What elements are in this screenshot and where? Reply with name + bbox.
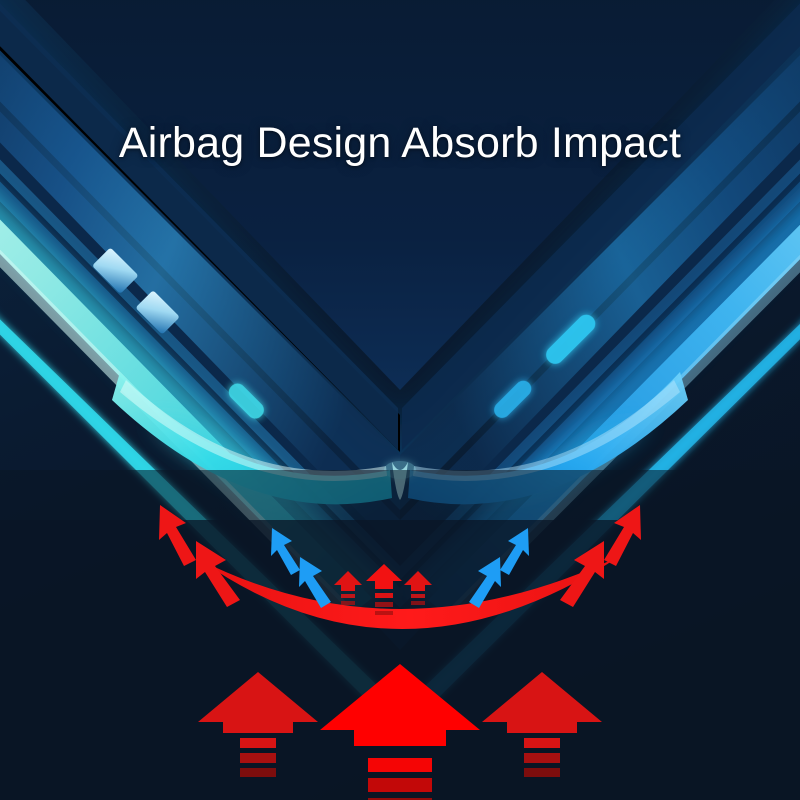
small-center-arrow-left (334, 571, 362, 605)
small-center-arrow-right (404, 571, 432, 605)
impact-arrow-left (198, 672, 318, 777)
page-title: Airbag Design Absorb Impact (0, 119, 800, 168)
inward-arrow-left-upper (271, 528, 300, 575)
outward-arrow-right-outer (604, 505, 641, 566)
outward-arrow-left-inner (196, 541, 240, 607)
impact-arrow-right (482, 672, 602, 777)
outward-arrow-right-inner (560, 541, 604, 607)
promo-image-canvas: Airbag Design Absorb Impact (0, 0, 800, 800)
small-center-arrow-middle (366, 564, 402, 615)
impact-arrow-center (320, 664, 480, 800)
inward-arrow-right-upper (500, 528, 529, 575)
outward-arrow-left-outer (159, 505, 196, 566)
impact-absorption-arc (200, 556, 620, 629)
